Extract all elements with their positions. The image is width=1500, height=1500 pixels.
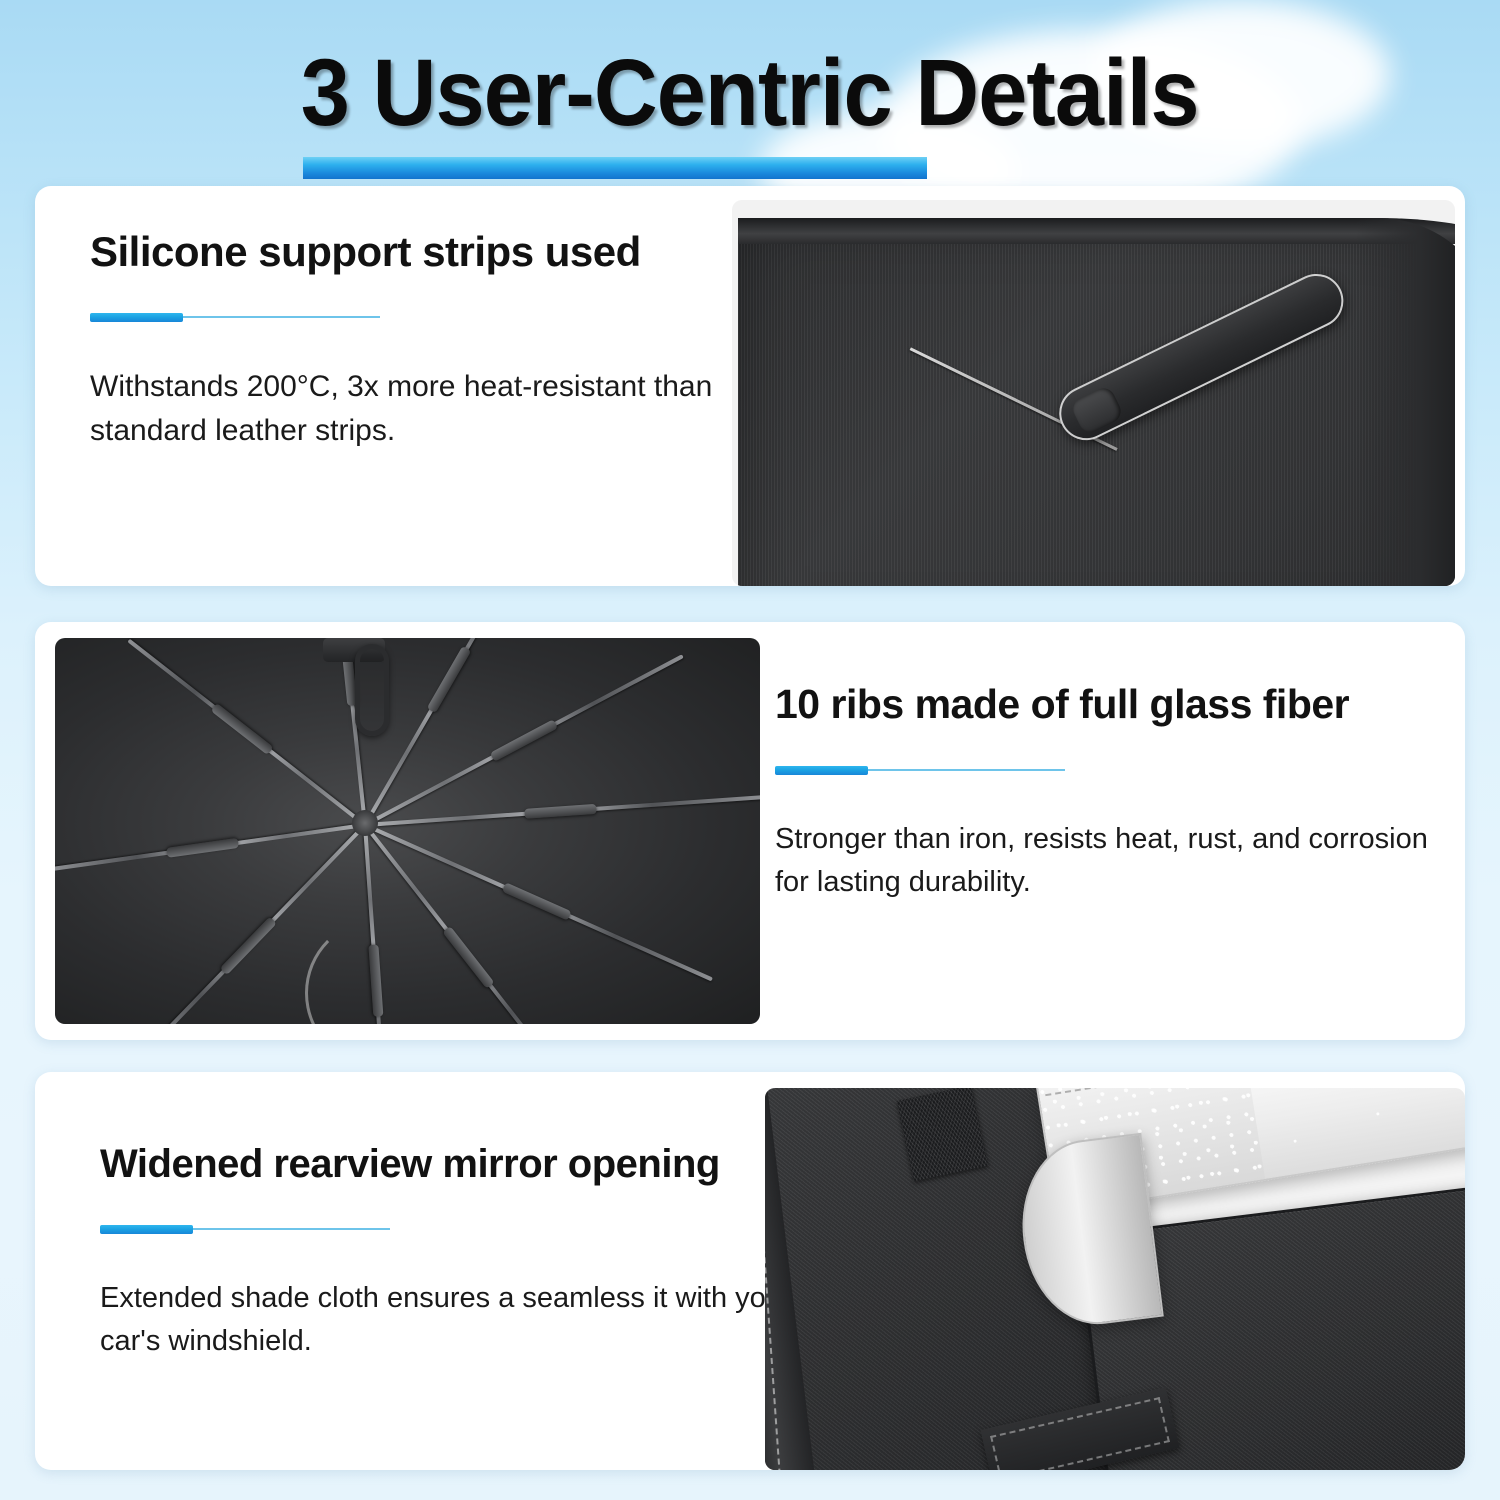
card-text-block: Silicone support strips used Withstands … [90, 228, 730, 454]
card-text-block: 10 ribs made of full glass fiber Stronge… [775, 682, 1455, 904]
card-text-block: Widened rearview mirror opening Extended… [100, 1142, 800, 1363]
accent-divider [100, 1225, 390, 1233]
accent-divider [775, 766, 1065, 774]
card-description: Extended shade cloth ensures a seamless … [100, 1277, 800, 1363]
feature-card-glass-fiber-ribs: 10 ribs made of full glass fiber Stronge… [35, 622, 1465, 1040]
card-heading: Silicone support strips used [90, 228, 730, 275]
sparkle-dot [1376, 1112, 1379, 1115]
sunshade-top-edge [738, 218, 1455, 244]
card-description: Withstands 200°C, 3x more heat-resistant… [90, 365, 730, 454]
divider-fill [775, 766, 868, 775]
divider-fill [90, 313, 183, 322]
product-photo-silicone-strip [732, 200, 1455, 586]
strip-grip-nub [1069, 384, 1124, 436]
card-heading: Widened rearview mirror opening [100, 1142, 800, 1187]
card-heading: 10 ribs made of full glass fiber [775, 682, 1455, 728]
divider-fill [100, 1225, 193, 1234]
page-header: 3 User-Centric Details [0, 44, 1500, 144]
card-description: Stronger than iron, resists heat, rust, … [775, 818, 1455, 904]
title-underline-bar [303, 157, 927, 179]
product-photo-umbrella-ribs [55, 638, 760, 1024]
feature-card-silicone-support-strips: Silicone support strips used Withstands … [35, 186, 1465, 586]
sparkle-dot [1293, 1139, 1296, 1142]
product-photo-mirror-opening [765, 1088, 1465, 1470]
sunshade-right-rim [1356, 218, 1455, 586]
accent-divider [90, 313, 380, 321]
velcro-patch [897, 1088, 988, 1181]
umbrella-handle-loop [355, 644, 389, 736]
feature-card-rearview-mirror-opening: Widened rearview mirror opening Extended… [35, 1072, 1465, 1470]
page-title: 3 User-Centric Details [301, 44, 1199, 144]
